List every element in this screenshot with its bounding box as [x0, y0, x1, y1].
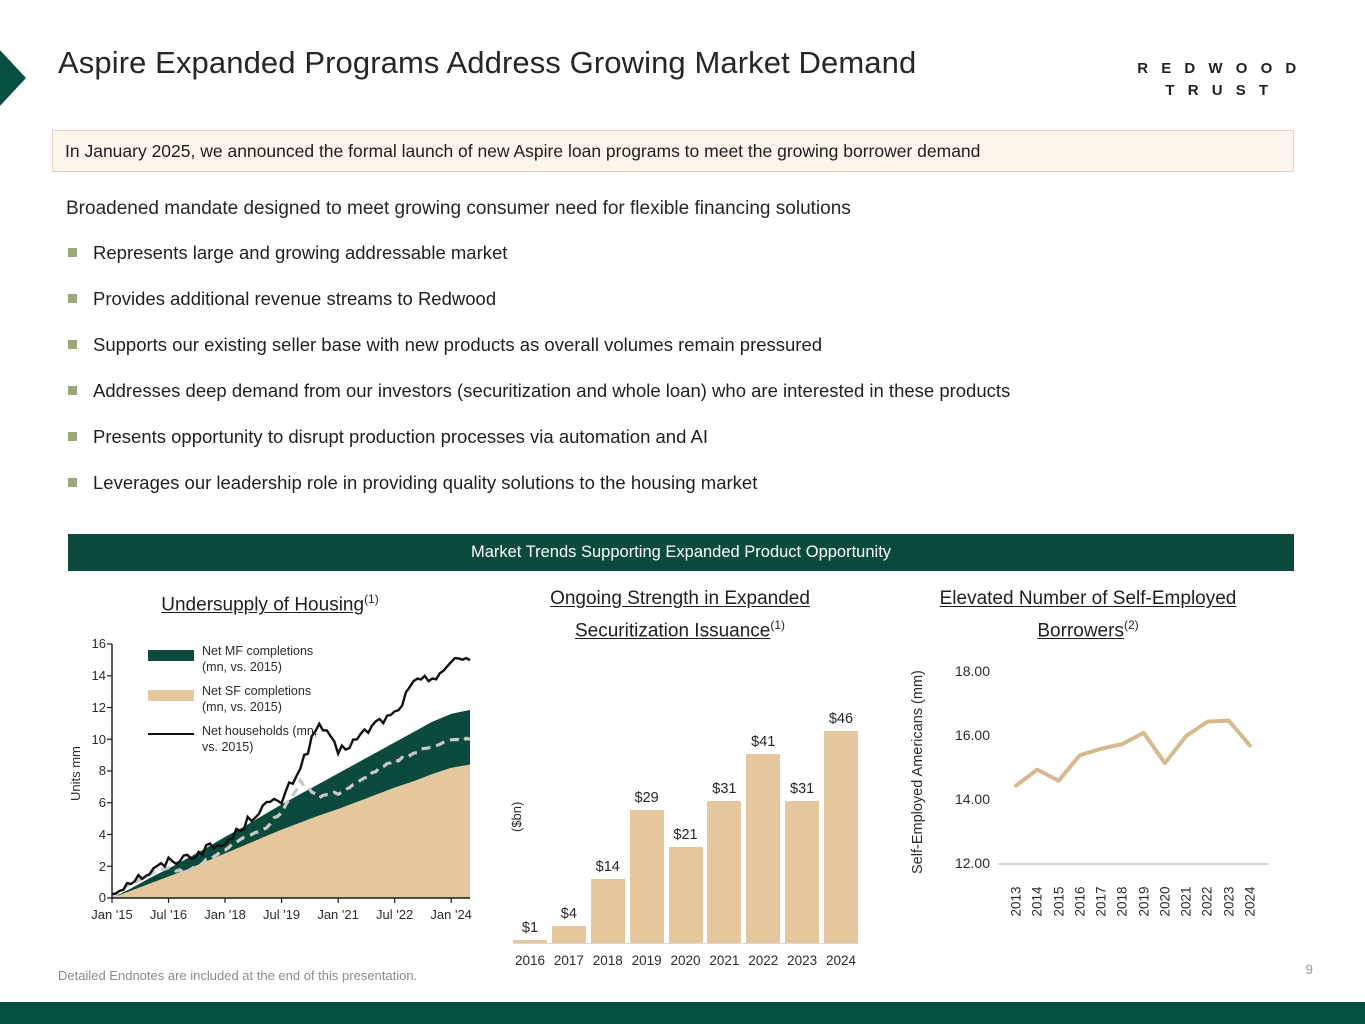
legend-label: Net SF completions (mn, vs. 2015) [202, 684, 334, 715]
chart-title-line1: Elevated Number of Self-Employed [940, 588, 1237, 609]
bullet-square-icon [68, 478, 77, 487]
chart-x-tick-label: 2018 [1115, 882, 1130, 922]
chart-title-line2: Borrowers [1037, 620, 1124, 641]
footer-bar [0, 1002, 1365, 1024]
bar-rect [824, 731, 858, 944]
callout-text: In January 2025, we announced the formal… [53, 141, 980, 162]
chart-x-tick-label: 2016 [513, 953, 547, 968]
legend-item: Net MF completions (mn, vs. 2015) [148, 644, 334, 675]
brand-name-line2: T R U S T [1119, 80, 1319, 102]
list-item: Supports our existing seller base with n… [68, 332, 1298, 378]
chart-title-line2: Securitization Issuance [575, 620, 770, 641]
bar-value-label: $31 [790, 781, 814, 797]
bar-column: $41 [746, 686, 780, 944]
bar-column: $1 [513, 686, 547, 944]
chart-x-axis-line [513, 943, 858, 944]
chart-y-tick-label: 12.00 [902, 855, 990, 871]
bar-column: $21 [669, 686, 703, 944]
list-item-label: Supports our existing seller base with n… [93, 332, 822, 358]
list-item: Addresses deep demand from our investors… [68, 378, 1298, 424]
chart-x-tick-label: Jan '18 [198, 907, 252, 922]
list-item-label: Represents large and growing addressable… [93, 240, 507, 266]
chart-x-tick-label: 2013 [1009, 882, 1024, 922]
bar-value-label: $46 [829, 711, 853, 727]
chart-y-tick-label: 14 [70, 668, 106, 683]
chart-x-tick-label: Jan '15 [85, 907, 139, 922]
bullet-list: Represents large and growing addressable… [68, 240, 1298, 516]
chart-y-tick-label: 2 [70, 859, 106, 874]
chart-x-tick-label: 2023 [785, 953, 819, 968]
chart-y-tick-label: 0 [70, 890, 106, 905]
chart-x-tick-label: 2018 [591, 953, 625, 968]
list-item-label: Provides additional revenue streams to R… [93, 286, 496, 312]
chart-securitization-issuance: ($bn) $1$4$14$29$21$31$41$31$46 20162017… [495, 654, 865, 944]
bar-rect [630, 810, 664, 945]
chart-x-tick-label: 2017 [1094, 882, 1109, 922]
chart-y-axis-label: Self-Employed Americans (mm) [910, 670, 926, 874]
chart-x-tick-label: 2023 [1221, 882, 1236, 922]
chart-x-tick-label: 2017 [552, 953, 586, 968]
chart-title-line1: Ongoing Strength in Expanded [550, 588, 810, 609]
section-banner: Market Trends Supporting Expanded Produc… [68, 534, 1294, 571]
list-item: Leverages our leadership role in providi… [68, 470, 1298, 516]
legend-swatch-mf [148, 650, 194, 661]
chart-x-tick-label: 2021 [1179, 882, 1194, 922]
legend-label: Net households (mn, vs. 2015) [202, 724, 334, 755]
list-item-label: Presents opportunity to disrupt producti… [93, 424, 708, 450]
bar-value-label: $21 [673, 827, 697, 843]
footnote-marker: (2) [1124, 618, 1139, 632]
bar-column: $46 [824, 686, 858, 944]
chart-y-tick-label: 12 [70, 700, 106, 715]
bullet-square-icon [68, 340, 77, 349]
chart-x-tick-label: 2014 [1030, 882, 1045, 922]
chart-y-tick-label: 14.00 [902, 791, 990, 807]
chart-x-axis-tick-labels: 201620172018201920202021202220232024 [513, 953, 858, 968]
bar-rect [707, 801, 741, 945]
chart-y-tick-label: 10 [70, 732, 106, 747]
chart-y-tick-label: 4 [70, 827, 106, 842]
section-banner-label: Market Trends Supporting Expanded Produc… [471, 543, 891, 562]
chart-x-tick-label: Jan '24 [424, 907, 478, 922]
bar-value-label: $29 [635, 790, 659, 806]
bar-rect [669, 847, 703, 944]
chart-title-text: Undersupply of Housing [161, 594, 364, 615]
bar-column: $14 [591, 686, 625, 944]
bar-series-container: $1$4$14$29$21$31$41$31$46 [513, 686, 858, 944]
bar-column: $4 [552, 686, 586, 944]
chart-x-tick-label: 2016 [1072, 882, 1087, 922]
brand-name-line1: R E D W O O D [1119, 58, 1319, 80]
legend-item: Net SF completions (mn, vs. 2015) [148, 684, 334, 715]
brand-logo: R E D W O O D T R U S T [1119, 58, 1319, 102]
legend-swatch-sf [148, 690, 194, 701]
bar-column: $31 [707, 686, 741, 944]
list-item-label: Addresses deep demand from our investors… [93, 378, 1010, 404]
chart-legend-undersupply: Net MF completions (mn, vs. 2015) Net SF… [148, 644, 334, 764]
bar-rect [785, 801, 819, 945]
bar-value-label: $14 [596, 859, 620, 875]
chart-y-tick-label: 16 [70, 636, 106, 651]
list-item: Represents large and growing addressable… [68, 240, 1298, 286]
legend-swatch-households [148, 733, 194, 735]
bar-value-label: $31 [712, 781, 736, 797]
bullet-square-icon [68, 294, 77, 303]
bar-rect [746, 754, 780, 944]
callout-box: In January 2025, we announced the formal… [52, 130, 1294, 172]
bullet-square-icon [68, 386, 77, 395]
chart-x-tick-label: 2024 [1243, 882, 1258, 922]
chart-y-tick-label: 8 [70, 763, 106, 778]
lead-paragraph: Broadened mandate designed to meet growi… [66, 198, 851, 220]
chart-x-tick-label: 2024 [824, 953, 858, 968]
footnote-marker: (1) [770, 618, 785, 632]
legend-item: Net households (mn, vs. 2015) [148, 724, 334, 755]
bar-value-label: $4 [561, 906, 577, 922]
bar-rect [591, 879, 625, 944]
footnote-marker: (1) [364, 592, 379, 606]
chart-x-tick-label: 2020 [1157, 882, 1172, 922]
decorative-triangle-icon [0, 48, 26, 108]
chart-x-tick-label: 2022 [1200, 882, 1215, 922]
bar-rect [552, 926, 586, 945]
page-number: 9 [1305, 962, 1313, 977]
chart-x-tick-label: 2019 [630, 953, 664, 968]
chart-x-tick-label: Jan '21 [311, 907, 365, 922]
chart-x-tick-label: Jul '19 [255, 907, 309, 922]
list-item: Presents opportunity to disrupt producti… [68, 424, 1298, 470]
chart-title-issuance: Ongoing Strength in Expanded Securitizat… [495, 586, 865, 644]
chart-y-tick-label: 16.00 [902, 727, 990, 743]
chart-undersupply-of-housing: Net MF completions (mn, vs. 2015) Net SF… [60, 636, 480, 936]
chart-x-tick-label: 2022 [746, 953, 780, 968]
bar-column: $29 [630, 686, 664, 944]
chart-title-selfemployed: Elevated Number of Self-Employed Borrowe… [888, 586, 1288, 644]
chart-x-tick-label: 2015 [1051, 882, 1066, 922]
bullet-square-icon [68, 432, 77, 441]
chart-y-tick-label: 6 [70, 795, 106, 810]
list-item: Provides additional revenue streams to R… [68, 286, 1298, 332]
chart-x-tick-label: Jul '16 [142, 907, 196, 922]
chart-x-tick-label: 2019 [1136, 882, 1151, 922]
chart-x-tick-label: 2021 [707, 953, 741, 968]
list-item-label: Leverages our leadership role in providi… [93, 470, 757, 496]
chart-title-undersupply: Undersupply of Housing(1) [60, 586, 480, 618]
chart-panel-undersupply-of-housing: Undersupply of Housing(1) Net MF complet… [60, 586, 480, 936]
chart-panel-securitization-issuance: Ongoing Strength in Expanded Securitizat… [495, 586, 865, 944]
chart-x-tick-label: 2020 [669, 953, 703, 968]
bullet-square-icon [68, 248, 77, 257]
footnote-text: Detailed Endnotes are included at the en… [58, 968, 417, 983]
legend-label: Net MF completions (mn, vs. 2015) [202, 644, 334, 675]
bar-value-label: $1 [522, 920, 538, 936]
chart-self-employed-borrowers: Self-Employed Americans (mm) 12.0014.001… [888, 654, 1288, 954]
page-title: Aspire Expanded Programs Address Growing… [58, 42, 938, 83]
bar-value-label: $41 [751, 734, 775, 750]
chart-y-tick-label: 18.00 [902, 663, 990, 679]
bar-column: $31 [785, 686, 819, 944]
chart-panel-self-employed-borrowers: Elevated Number of Self-Employed Borrowe… [888, 586, 1288, 954]
chart-x-tick-label: Jul '22 [368, 907, 422, 922]
